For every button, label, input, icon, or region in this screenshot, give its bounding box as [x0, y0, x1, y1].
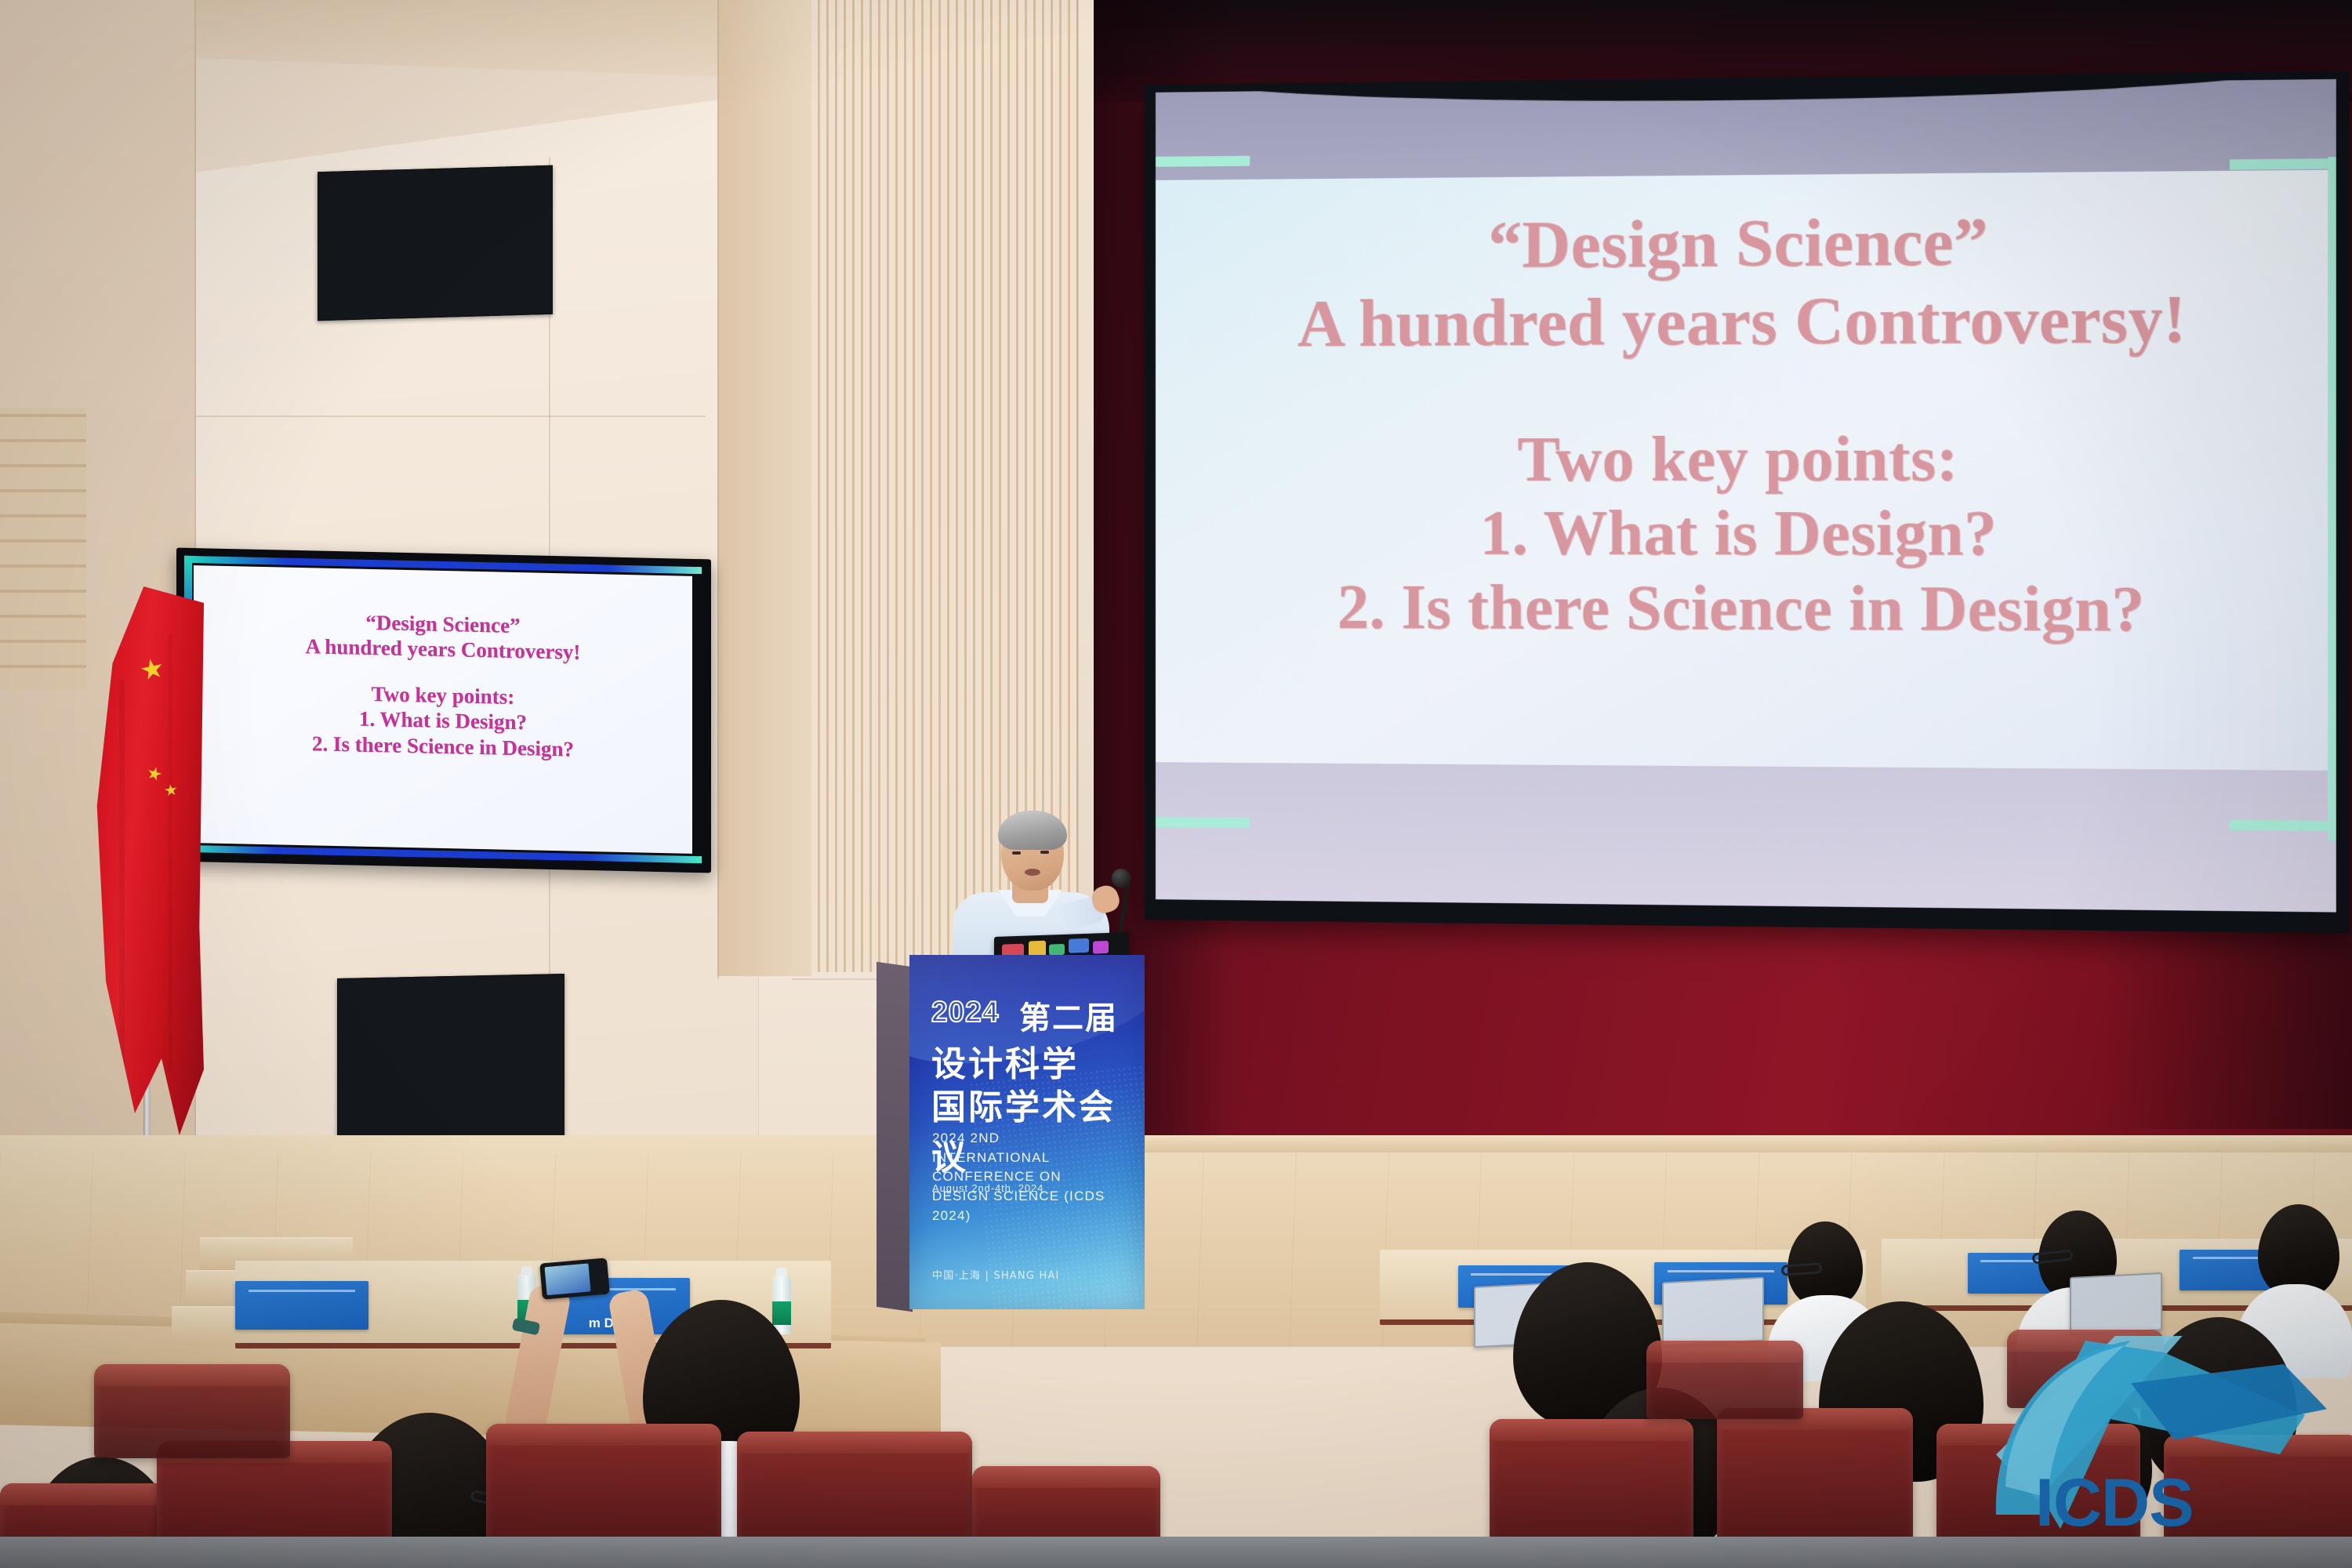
slide-line-1: “Design Science” — [1156, 201, 2336, 287]
slide-accent-bar-top-right — [2230, 158, 2336, 170]
slide-top-band — [1156, 79, 2336, 180]
seat-headrest — [486, 1424, 721, 1446]
laptop-sticker — [1093, 941, 1109, 954]
bottle-cap — [521, 1266, 532, 1275]
projection-screen-surface: “Design Science” A hundred years Controv… — [1156, 79, 2336, 913]
slide-spacer — [1156, 360, 2336, 424]
flag-star-small — [146, 765, 163, 782]
icds-logo: ICDS — [1991, 1333, 2328, 1568]
placard-rule — [1668, 1270, 1774, 1272]
microphone-icon — [1112, 869, 1131, 887]
seat-headrest — [972, 1466, 1160, 1488]
slide-line-5: 2. Is there Science in Design? — [1156, 571, 2336, 648]
podium-banner: 2024 第二届 设计科学 国际学术会议 2024 2ND INTERNATIO… — [909, 955, 1145, 1309]
stage-front-trim — [1094, 1135, 2352, 1152]
attendee-laptop[interactable] — [1662, 1277, 1764, 1347]
wall-texture-block — [0, 408, 86, 690]
flag-fold — [168, 633, 172, 1073]
laptop-sticker — [1049, 944, 1065, 956]
monitor-screen: “Design Science” A hundred years Controv… — [194, 565, 692, 854]
podium-edition-cn: 第二届 — [1019, 993, 1118, 1038]
speaker-hair — [998, 811, 1067, 850]
wall-slat-edge — [717, 0, 811, 976]
theater-seat[interactable] — [1646, 1341, 1803, 1419]
seat-headrest — [0, 1483, 180, 1505]
podium-year: 2024 — [931, 996, 999, 1029]
seat-headrest — [737, 1432, 972, 1454]
bottle-cap — [776, 1268, 787, 1276]
podium-side-panel — [877, 962, 913, 1312]
slide-line-3: Two key points: — [1156, 421, 2336, 497]
speaker-eye — [1040, 851, 1049, 854]
wall-seam — [717, 0, 719, 980]
slide-text-block: “Design Science” A hundred years Controv… — [1156, 201, 2336, 648]
attendee-laptop[interactable] — [2070, 1272, 2162, 1335]
podium-en-line2: INTERNATIONAL CONFERENCE ON — [932, 1149, 1128, 1187]
conference-hall-photo: “Design Science” A hundred years Controv… — [0, 0, 2352, 1568]
seat-headrest — [1646, 1341, 1803, 1363]
name-placard — [235, 1281, 368, 1330]
slide-accent-bar-top-left — [1156, 156, 1250, 167]
seat-headrest — [1490, 1419, 1693, 1441]
smartphone[interactable] — [539, 1258, 610, 1299]
slide-bottom-band — [1156, 762, 2336, 912]
placard-rule — [249, 1290, 355, 1292]
speaker-eye — [1012, 851, 1021, 855]
acoustic-panel-lower — [337, 974, 564, 1147]
flag-fold — [119, 681, 125, 1088]
acoustic-panel-upper — [318, 165, 553, 321]
speaker-podium: 2024 第二届 设计科学 国际学术会议 2024 2ND INTERNATIO… — [909, 955, 1145, 1309]
phone-screen — [545, 1263, 591, 1295]
water-bottle — [772, 1275, 791, 1334]
icds-logo-text: ICDS — [2035, 1465, 2193, 1542]
flag-star-large — [139, 656, 165, 682]
speaker-mouth — [1025, 869, 1040, 876]
left-wall-monitor[interactable]: “Design Science” A hundred years Controv… — [176, 548, 711, 873]
theater-seat[interactable] — [94, 1364, 290, 1458]
bottle-label — [772, 1301, 791, 1325]
monitor-slide-text: “Design Science” A hundred years Controv… — [194, 606, 692, 764]
slide-line-4: 1. What is Design? — [1156, 497, 2336, 573]
seat-headrest — [94, 1364, 290, 1386]
slide-accent-bar-bottom-right — [2230, 820, 2336, 832]
podium-en-line1: 2024 2ND — [932, 1129, 1128, 1149]
podium-title-en: 2024 2ND INTERNATIONAL CONFERENCE ON DES… — [932, 1129, 1128, 1225]
slide-accent-bar-bottom-left — [1156, 817, 1250, 828]
projection-screen-frame: “Design Science” A hundred years Controv… — [1145, 71, 2350, 933]
slide-line-2: A hundred years Controversy! — [1156, 280, 2336, 364]
podium-date: August 2nd-4th, 2024 — [932, 1182, 1044, 1194]
wall-seam — [196, 416, 706, 417]
laptop-sticker — [1069, 938, 1089, 953]
